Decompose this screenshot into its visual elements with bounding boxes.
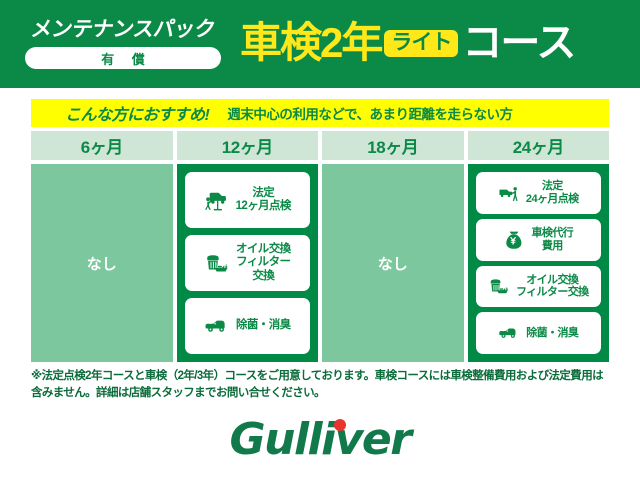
column-service-list: 法定 24ヶ月点検車検代行 費用オイル交換 フィルター交換除菌・消臭 xyxy=(468,164,610,362)
service-card: オイル交換 フィルター交換 xyxy=(476,266,602,308)
recommendation-band: こんな方におすすめ! 週末中心の利用などで、あまり距離を走らない方 xyxy=(31,99,609,127)
plan-column-12ヶ月: 12ヶ月法定 12ヶ月点検オイル交換 フィルター 交換除菌・消臭 xyxy=(177,131,319,362)
oil-filter-change-icon xyxy=(204,250,230,276)
column-header: 12ヶ月 xyxy=(177,131,319,160)
service-card: オイル交換 フィルター 交換 xyxy=(185,235,311,291)
money-bag-yen-icon xyxy=(503,229,525,251)
course-suffix-title: コース xyxy=(462,23,574,63)
logo-dot-icon xyxy=(334,419,346,431)
service-card-label: 除菌・消臭 xyxy=(526,327,578,340)
plan-column-6ヶ月: 6ヶ月なし xyxy=(31,131,173,362)
course-main-title: 車検2年 xyxy=(240,22,381,64)
service-plan-table: 6ヶ月なし12ヶ月法定 12ヶ月点検オイル交換 フィルター 交換除菌・消臭18ヶ… xyxy=(31,131,609,362)
course-light-badge: ライト xyxy=(384,30,458,57)
service-card-label: 除菌・消臭 xyxy=(236,319,291,332)
column-service-list: 法定 12ヶ月点検オイル交換 フィルター 交換除菌・消臭 xyxy=(177,164,319,362)
banner-right-group: 車検2年 ライト コース xyxy=(240,22,640,64)
paid-badge: 有 償 xyxy=(25,47,221,69)
footnote-text: ※法定点検2年コースと車検（2年/3年）コースをご用意しております。車検コースに… xyxy=(31,368,613,401)
service-card-label: 車検代行 費用 xyxy=(531,227,573,252)
service-card: 除菌・消臭 xyxy=(476,312,602,354)
header-banner: メンテナンスパック 有 償 車検2年 ライト コース xyxy=(0,0,640,88)
recommendation-note: 週末中心の利用などで、あまり距離を走らない方 xyxy=(227,103,512,123)
service-card: 車検代行 費用 xyxy=(476,219,602,261)
gulliver-logo: Gulliver xyxy=(230,418,411,462)
service-card: 法定 24ヶ月点検 xyxy=(476,172,602,214)
service-card: 除菌・消臭 xyxy=(185,298,311,354)
service-card-label: オイル交換 フィルター 交換 xyxy=(236,243,291,283)
gulliver-logo-text: Gulliver xyxy=(230,414,411,465)
recommendation-heading: こんな方におすすめ! xyxy=(65,101,209,125)
service-card-label: 法定 12ヶ月点検 xyxy=(236,187,291,213)
brand-logo-area: Gulliver xyxy=(0,412,640,468)
column-empty-cell: なし xyxy=(322,164,464,362)
plan-column-24ヶ月: 24ヶ月法定 24ヶ月点検車検代行 費用オイル交換 フィルター交換除菌・消臭 xyxy=(468,131,610,362)
service-card-label: オイル交換 フィルター交換 xyxy=(516,274,589,299)
car-inspection-person-icon xyxy=(498,182,520,204)
column-header: 18ヶ月 xyxy=(322,131,464,160)
maintenance-pack-title: メンテナンスパック xyxy=(29,19,216,40)
banner-left-group: メンテナンスパック 有 償 xyxy=(12,19,234,69)
column-header: 6ヶ月 xyxy=(31,131,173,160)
plan-column-18ヶ月: 18ヶ月なし xyxy=(322,131,464,362)
column-header: 24ヶ月 xyxy=(468,131,610,160)
car-lift-inspection-icon xyxy=(204,187,230,213)
service-card-label: 法定 24ヶ月点検 xyxy=(526,180,579,205)
service-card: 法定 12ヶ月点検 xyxy=(185,172,311,228)
column-empty-cell: なし xyxy=(31,164,173,362)
oil-filter-change-icon xyxy=(488,275,510,297)
car-sanitize-icon xyxy=(204,313,230,339)
car-sanitize-icon xyxy=(498,322,520,344)
